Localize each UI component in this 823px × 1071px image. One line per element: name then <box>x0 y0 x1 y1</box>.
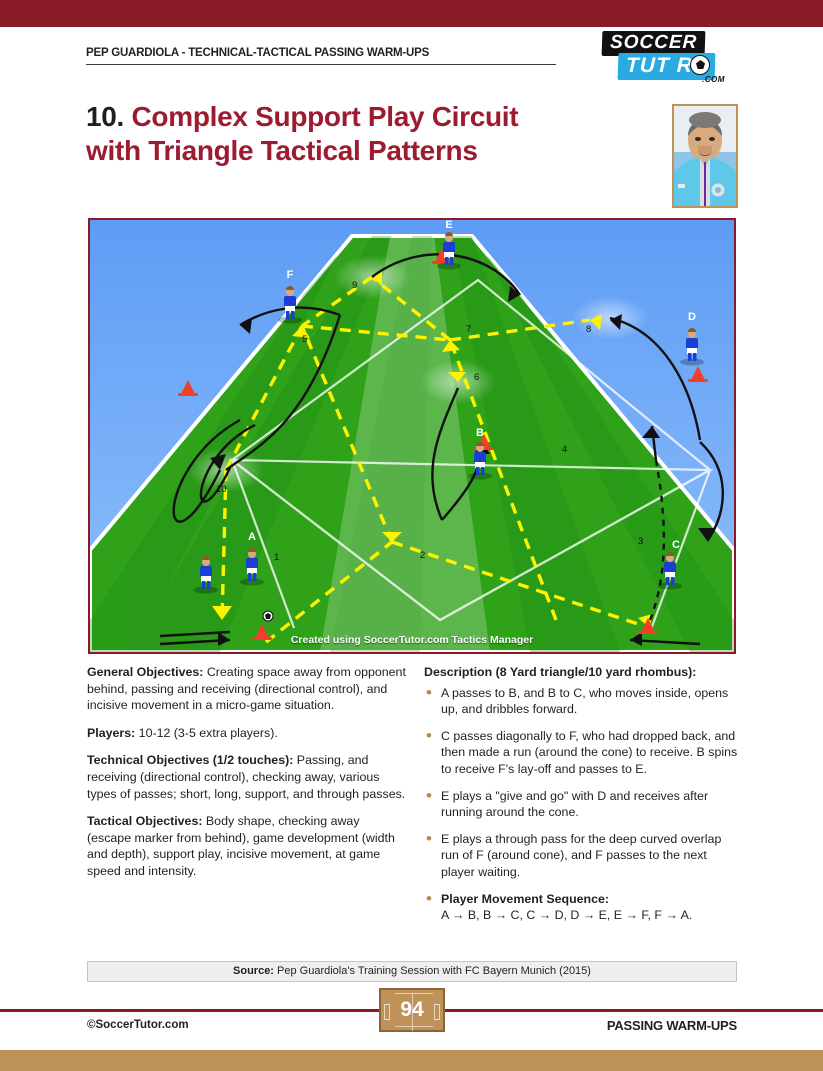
page-title-line-1: 10. Complex Support Play Circuit <box>86 100 646 134</box>
page-title: 10. Complex Support Play Circuit with Tr… <box>86 100 646 168</box>
step-3: 3 <box>638 536 643 547</box>
step-10: 10 <box>216 484 227 495</box>
step-8: 8 <box>586 324 591 335</box>
list-item: E plays a "give and go" with D and recei… <box>424 788 738 821</box>
footer-section-title: PASSING WARM-UPS <box>607 1018 737 1033</box>
list-item: E plays a through pass for the deep curv… <box>424 831 738 881</box>
pitch-svg: F E D B C A 1 2 3 4 5 6 7 8 9 10 <box>90 220 734 652</box>
description-bullet-1: A passes to B, and B to C, who moves ins… <box>441 686 728 717</box>
objectives-column: General Objectives: Creating space away … <box>87 664 407 891</box>
step-2: 2 <box>420 550 425 561</box>
coach-portrait <box>672 104 738 208</box>
movement-sequence-text: A → B, B → C, C → D, D → E, E → F, F → A… <box>441 908 692 922</box>
tactical-objectives-label: Tactical Objectives: <box>87 814 202 828</box>
players-text: 10-12 (3-5 extra players). <box>135 726 278 740</box>
soccertutor-logo[interactable]: SOCCER TUT R .COM <box>590 27 740 87</box>
step-5: 5 <box>302 334 307 345</box>
step-6: 6 <box>474 372 479 383</box>
list-item: C passes diagonally to F, who had droppe… <box>424 728 738 778</box>
step-4: 4 <box>562 444 567 455</box>
movement-sequence-label: Player Movement Sequence: <box>441 891 738 908</box>
page-number-badge: 94 <box>379 988 445 1032</box>
page-header: PEP GUARDIOLA - TECHNICAL-TACTICAL PASSI… <box>86 47 556 65</box>
step-9: 9 <box>352 280 357 291</box>
source-label: Source: <box>233 965 274 977</box>
footer-copyright: ©SoccerTutor.com <box>87 1019 189 1031</box>
player-label-A: A <box>248 531 256 543</box>
step-1: 1 <box>274 552 279 563</box>
general-objectives: General Objectives: Creating space away … <box>87 664 407 714</box>
soccer-ball-diagram <box>263 611 273 621</box>
list-item: Player Movement Sequence: A → B, B → C, … <box>424 891 738 924</box>
page-number: 94 <box>381 990 443 1030</box>
top-band <box>0 0 823 27</box>
player-label-D: D <box>688 311 696 323</box>
player-label-C: C <box>672 539 680 551</box>
page-title-text-2: with Triangle Tactical Patterns <box>86 134 646 168</box>
bottom-band <box>0 1050 823 1071</box>
players-label: Players: <box>87 726 135 740</box>
source-box: Source: Pep Guardiola's Training Session… <box>87 961 737 982</box>
general-objectives-label: General Objectives: <box>87 665 203 679</box>
tactics-diagram: F E D B C A 1 2 3 4 5 6 7 8 9 10 Created… <box>88 218 736 654</box>
description-bullet-4: E plays a through pass for the deep curv… <box>441 832 721 879</box>
header-divider <box>86 64 556 65</box>
description-bullet-2: C passes diagonally to F, who had droppe… <box>441 729 737 776</box>
player-label-F: F <box>287 269 294 281</box>
player-label-E: E <box>445 220 452 231</box>
soccer-ball-icon <box>690 55 710 75</box>
players-line: Players: 10-12 (3-5 extra players). <box>87 725 407 742</box>
description-column: Description (8 Yard triangle/10 yard rho… <box>424 664 738 934</box>
page-title-text-1: Complex Support Play Circuit <box>132 101 519 132</box>
technical-objectives: Technical Objectives (1/2 touches): Pass… <box>87 752 407 802</box>
page-title-number: 10. <box>86 101 124 132</box>
technical-objectives-label: Technical Objectives (1/2 touches): <box>87 753 293 767</box>
description-bullet-3: E plays a "give and go" with D and recei… <box>441 789 708 820</box>
description-list: A passes to B, and B to C, who moves ins… <box>424 685 738 924</box>
list-item: A passes to B, and B to C, who moves ins… <box>424 685 738 718</box>
logo-domain: .COM <box>702 75 725 84</box>
description-heading: Description (8 Yard triangle/10 yard rho… <box>424 664 738 681</box>
source-text: Pep Guardiola's Training Session with FC… <box>274 965 591 977</box>
tactical-objectives: Tactical Objectives: Body shape, checkin… <box>87 813 407 879</box>
header-eyebrow: PEP GUARDIOLA - TECHNICAL-TACTICAL PASSI… <box>86 47 556 59</box>
page: PEP GUARDIOLA - TECHNICAL-TACTICAL PASSI… <box>0 0 823 1071</box>
diagram-caption: Created using SoccerTutor.com Tactics Ma… <box>90 634 734 646</box>
player-label-B: B <box>476 427 484 439</box>
step-7: 7 <box>466 324 471 335</box>
